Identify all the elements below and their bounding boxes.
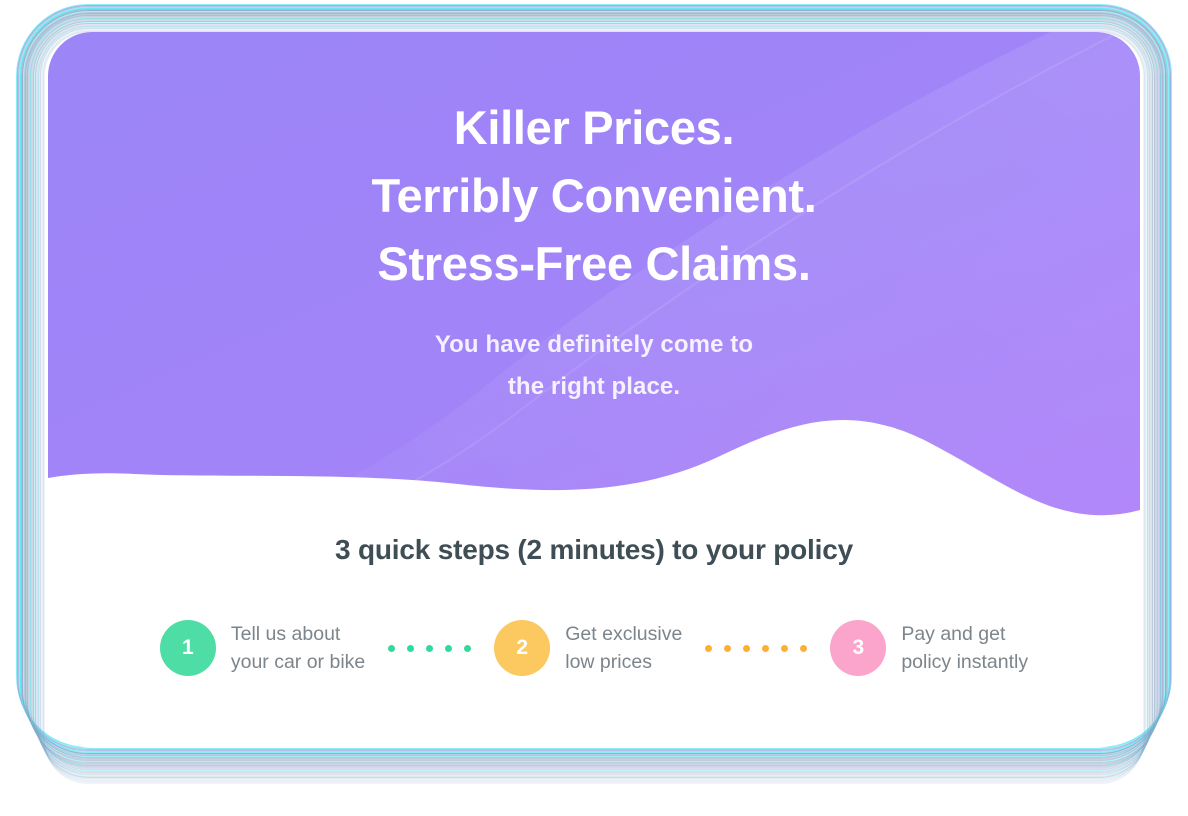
steps-section: 3 quick steps (2 minutes) to your policy… [48, 530, 1140, 676]
headline-line-3: Stress-Free Claims. [48, 230, 1140, 298]
subtitle-line-1: You have definitely come to [48, 324, 1140, 366]
steps-heading: 3 quick steps (2 minutes) to your policy [48, 530, 1140, 570]
step-label-3: Pay and get policy instantly [901, 620, 1028, 676]
connector-dot [407, 645, 414, 652]
step-item-1[interactable]: 1 Tell us about your car or bike [160, 620, 365, 676]
connector-dot [705, 645, 712, 652]
step-label-1: Tell us about your car or bike [231, 620, 365, 676]
screenshot-canvas: Killer Prices. Terribly Convenient. Stre… [0, 0, 1188, 816]
step-item-3[interactable]: 3 Pay and get policy instantly [830, 620, 1028, 676]
step-number-3: 3 [852, 636, 864, 660]
step-label-1-line-1: Tell us about [231, 620, 365, 648]
connector-dot [743, 645, 750, 652]
connector-dot [762, 645, 769, 652]
connector-dot [426, 645, 433, 652]
step-badge-2: 2 [494, 620, 550, 676]
connector-dot [781, 645, 788, 652]
step-connector-dots-1 [382, 645, 477, 652]
hero-subtitle: You have definitely come to the right pl… [48, 324, 1140, 408]
step-label-2-line-1: Get exclusive [565, 620, 682, 648]
step-number-1: 1 [182, 636, 194, 660]
connector-dot [388, 645, 395, 652]
step-connector-dots-2 [699, 645, 813, 652]
connector-dot [464, 645, 471, 652]
step-item-2[interactable]: 2 Get exclusive low prices [494, 620, 682, 676]
hero-card: Killer Prices. Terribly Convenient. Stre… [48, 32, 1140, 748]
steps-row: 1 Tell us about your car or bike 2 Get e… [48, 620, 1140, 676]
step-number-2: 2 [516, 636, 528, 660]
subtitle-line-2: the right place. [48, 366, 1140, 408]
connector-dot [800, 645, 807, 652]
connector-dot [445, 645, 452, 652]
hero-text-block: Killer Prices. Terribly Convenient. Stre… [48, 94, 1140, 408]
step-label-2-line-2: low prices [565, 648, 682, 676]
step-badge-3: 3 [830, 620, 886, 676]
headline-line-2: Terribly Convenient. [48, 162, 1140, 230]
headline-line-1: Killer Prices. [48, 94, 1140, 162]
step-label-3-line-2: policy instantly [901, 648, 1028, 676]
step-badge-1: 1 [160, 620, 216, 676]
connector-dot [724, 645, 731, 652]
step-label-2: Get exclusive low prices [565, 620, 682, 676]
step-label-3-line-1: Pay and get [901, 620, 1028, 648]
step-label-1-line-2: your car or bike [231, 648, 365, 676]
